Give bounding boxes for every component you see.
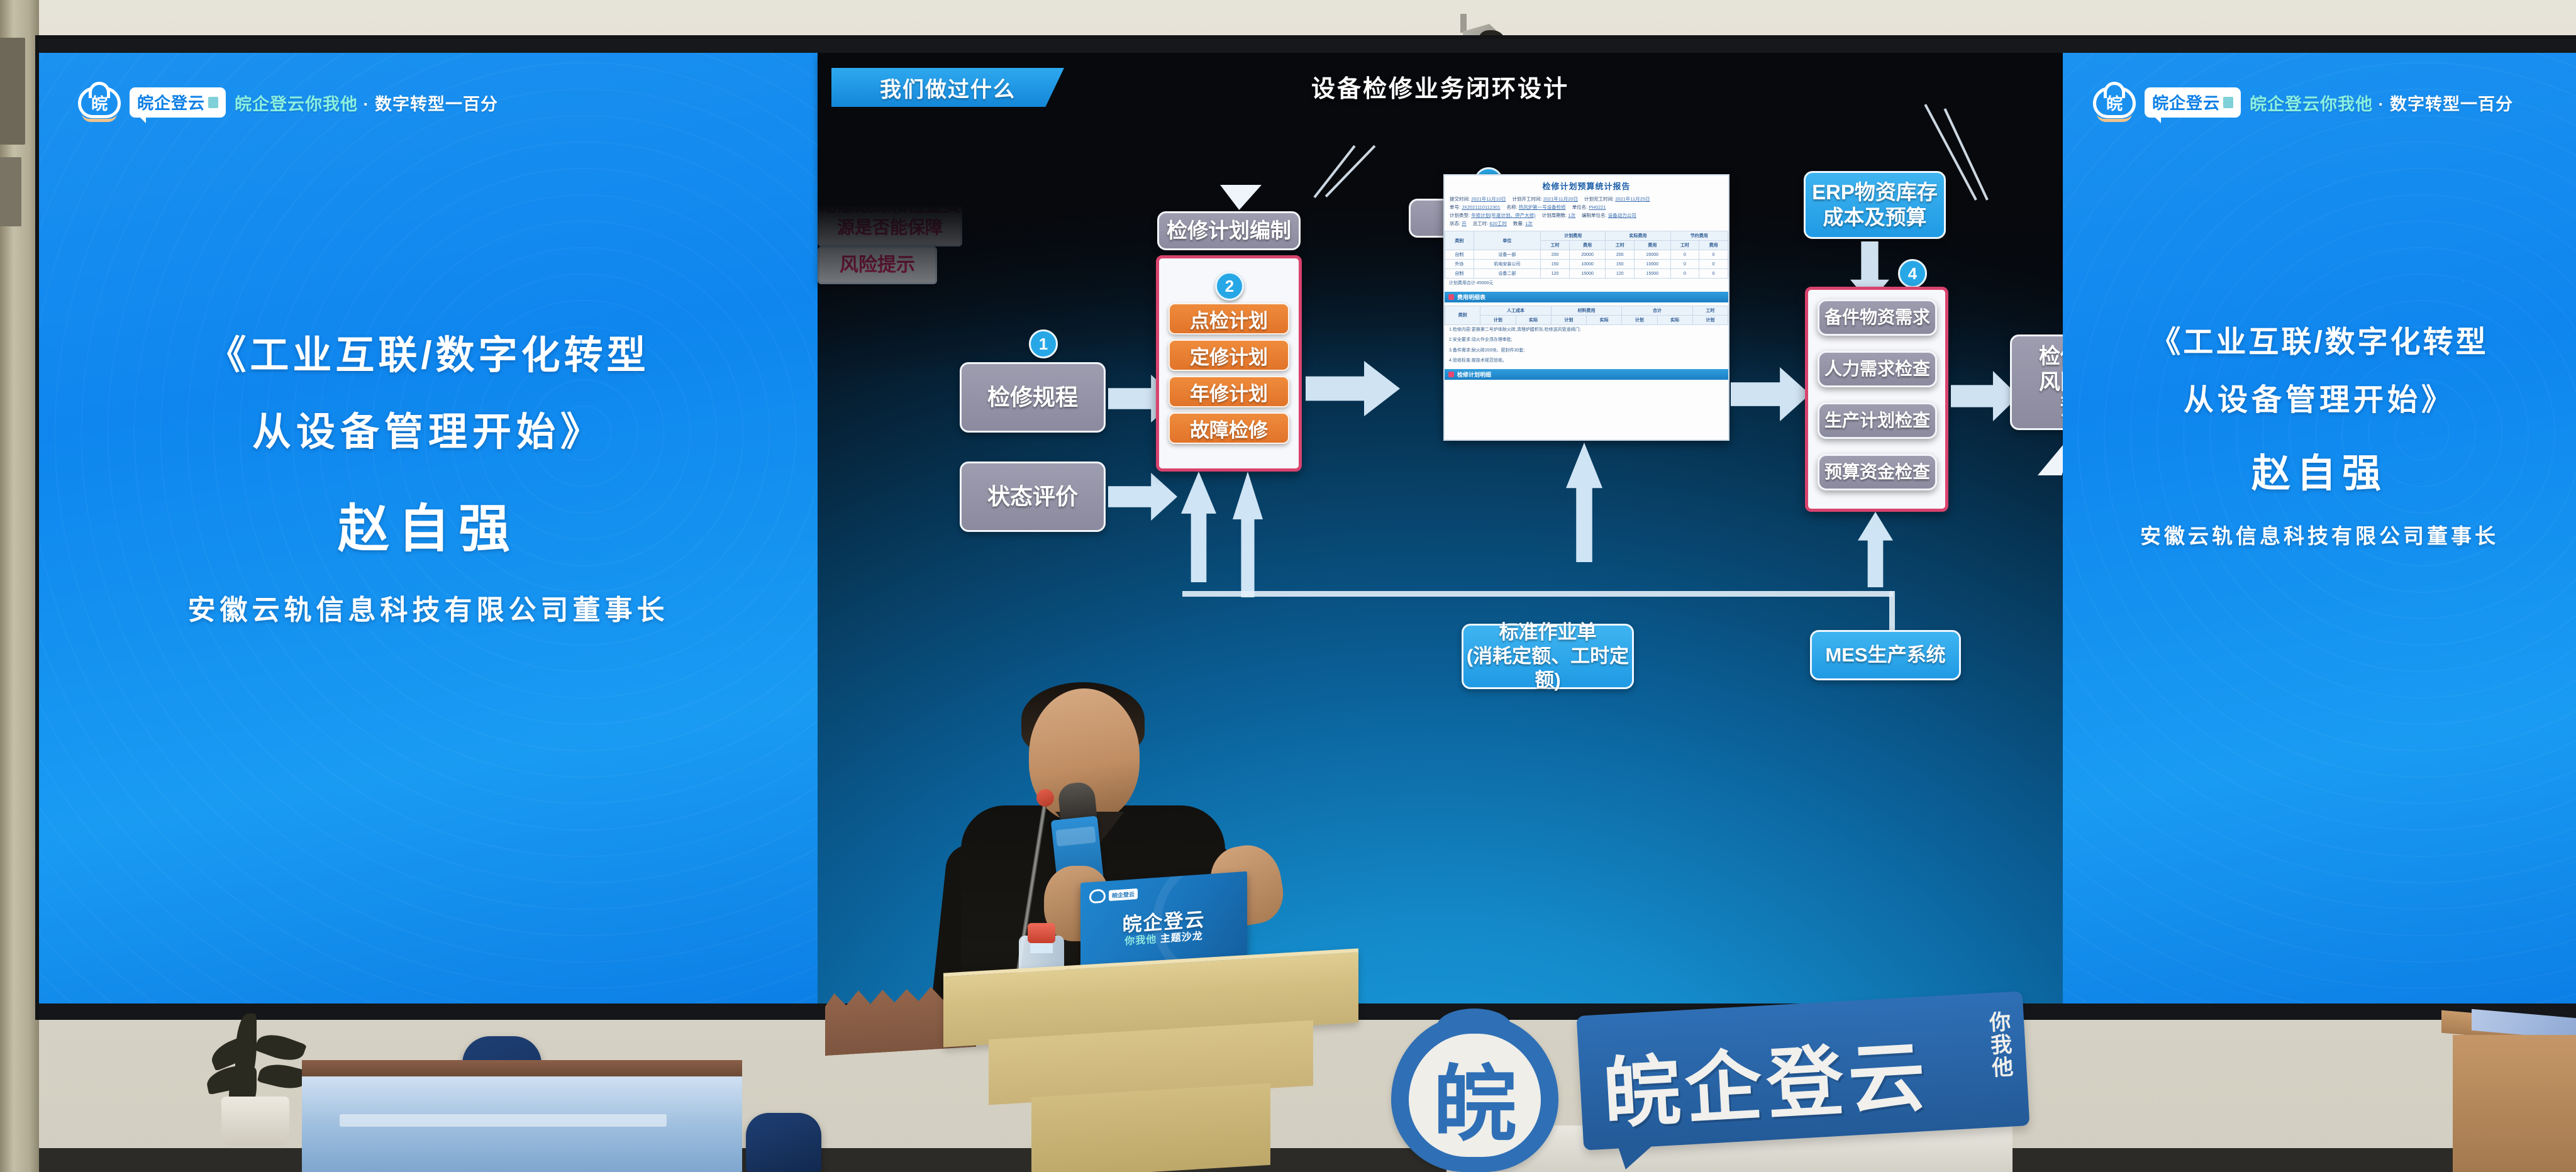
wall-logo-text: 皖企登云 <box>1600 1014 1933 1144</box>
table-row: 外协 机电安装公司 150 10000 150 10000 0 0 <box>1445 260 1728 269</box>
left-brandbar: 皖 皖企登云 皖企登云你我他 · 数字转型一百分 <box>78 84 498 121</box>
cell-r1c1: 机电安装公司 <box>1474 260 1541 269</box>
node-inspection-rule: 检修规程 <box>960 362 1106 433</box>
arrow-report-to-check <box>1731 367 1810 421</box>
pillar-panel-upper <box>0 38 25 145</box>
cell-r0c4: 200 <box>1606 250 1635 260</box>
col-header-5: 费用 <box>1635 241 1671 250</box>
sec2-sub-1: 实际 <box>1516 315 1551 324</box>
cloud-logo-glyph-right: 皖 <box>2106 94 2123 113</box>
wall-cloud-glyph: 皖 <box>1425 1058 1524 1164</box>
table-row: 类别 人工成本 材料费用 合计 工时 <box>1445 306 1728 315</box>
report-note-3: 4.验收标准:按技术规范验收。 <box>1445 356 1728 367</box>
col-header-6: 工时 <box>1670 241 1699 250</box>
meta-label-7: 计划周期数: <box>1542 213 1567 218</box>
report-cost-table: 类别 人工成本 材料费用 合计 工时 计划 实际 计划 实际 计划 实际 计划 <box>1445 306 1728 325</box>
wall-logo-plate-tail <box>1616 1139 1662 1170</box>
check-item-1: 人力需求检查 <box>1818 351 1937 387</box>
cell-r0c3: 20000 <box>1569 250 1606 260</box>
arrow-mes-to-check <box>1858 512 1893 587</box>
microphone-stand-head <box>1036 789 1054 807</box>
wall-brand-logo: 皖 皖企登云 你 我 他 <box>1391 1001 2026 1172</box>
brand-chip-right: 皖企登云 <box>2145 87 2241 118</box>
report-footer-note: 计划费用合计:45000元 <box>1445 279 1728 289</box>
plan-item-3: 故障检修 <box>1169 412 1289 444</box>
plan-item-0: 点检计划 <box>1169 303 1289 334</box>
potted-plant <box>196 1007 316 1146</box>
sec2-sub-3: 实际 <box>1587 315 1622 324</box>
badge-2: 2 <box>1215 272 1244 301</box>
cell-r2c3: 15000 <box>1569 269 1606 279</box>
cell-r1c4: 150 <box>1606 260 1635 269</box>
left-talk-title-line1: 《工业互联/数字化转型 <box>39 323 818 380</box>
front-table-top <box>302 1060 742 1076</box>
wall-logo-small-line-1: 你 <box>1989 1010 2012 1034</box>
sec2-col-4: 工时 <box>1692 306 1728 315</box>
meta-label-4: 名称: <box>1507 204 1518 210</box>
meta-label-10: 总工时: <box>1473 221 1489 226</box>
cell-r1c7: 0 <box>1699 260 1728 269</box>
cell-r0c0: 自制 <box>1445 250 1474 260</box>
cloud-logo-icon-right: 皖 <box>2093 84 2136 121</box>
podium-base <box>1031 1083 1270 1172</box>
erp-line-2: 成本及预算 <box>1823 205 1927 230</box>
node-mes-system: MES生产系统 <box>1810 630 1961 680</box>
pillar-panel-lower <box>0 157 21 226</box>
cell-r1c2: 150 <box>1541 260 1570 269</box>
meta-value-6: 年修计划(年度计划、停产大修) <box>1471 213 1536 218</box>
cell-r1c0: 外协 <box>1445 260 1474 269</box>
wall-logo-small-text: 你 我 他 <box>1989 1010 2014 1080</box>
report-section-3: 检修计划明细 <box>1445 369 1728 380</box>
table-row: 计划 实际 计划 实际 计划 实际 计划 <box>1445 315 1728 324</box>
right-speaker-role: 安徽云轨信息科技有限公司董事长 <box>2063 519 2576 550</box>
meta-value-3: JX2021110112301 <box>1462 204 1500 210</box>
brand-tagline-right: 皖企登云你我他 · 数字转型一百分 <box>2250 91 2513 115</box>
table-group-header-row: 类别 单位 计划费用 实际费用 节约费用 <box>1445 231 1728 241</box>
cell-r0c1: 设备一部 <box>1474 250 1541 260</box>
col-header-7: 费用 <box>1699 241 1728 250</box>
meta-label-3: 单号: <box>1450 204 1460 210</box>
meta-value-4: 热风炉第一号设备检修 <box>1519 204 1566 210</box>
arrow-plan-to-report <box>1306 361 1400 416</box>
badge-4: 4 <box>1898 259 1927 288</box>
sec2-sub-0: 计划 <box>1480 315 1516 324</box>
podium-sign-sub-b: 主题沙龙 <box>1160 931 1203 945</box>
wall-logo-small-line-2: 我 <box>1990 1033 2013 1057</box>
plan-item-2: 年修计划 <box>1169 376 1289 407</box>
meta-label-8: 编制单位名: <box>1582 213 1607 218</box>
led-screen-content: 皖 皖企登云 皖企登云你我他 · 数字转型一百分 《工业互联/数字化转型 从设备… <box>39 53 2576 1003</box>
cell-r1c3: 10000 <box>1569 260 1606 269</box>
brand-tagline: 皖企登云你我他 · 数字转型一百分 <box>235 91 498 115</box>
cell-r1c6: 0 <box>1670 260 1699 269</box>
group-header-0: 计划费用 <box>1541 231 1606 241</box>
meta-value-10: 620工时 <box>1489 221 1507 226</box>
col-header-4: 工时 <box>1606 241 1635 250</box>
sec2-col-2: 材料费用 <box>1551 306 1622 315</box>
right-talk-title-line1: 《工业互联/数字化转型 <box>2063 317 2576 361</box>
meta-value-8: 设备动力公司 <box>1608 213 1636 218</box>
badge-1: 1 <box>1029 329 1058 358</box>
cell-r0c2: 200 <box>1541 250 1570 260</box>
check-item-0: 备件物资需求 <box>1818 299 1937 336</box>
podium-logo-label: 皖企登云 <box>1109 888 1138 900</box>
section-marker-icon-2 <box>1448 372 1454 377</box>
chair <box>746 1113 821 1172</box>
right-talk-title-line2: 从设备管理开始》 <box>2063 375 2576 419</box>
meta-value-7: 1次 <box>1568 213 1575 218</box>
arrow-up-to-plan-b <box>1233 472 1263 597</box>
arrow-up-to-plan-a <box>1181 472 1216 582</box>
podium-sign-sub-a: 你我他 <box>1124 934 1157 948</box>
report-title: 检修计划预算统计报告 <box>1445 175 1728 195</box>
podium-card-logo: 皖企登云 <box>1089 887 1138 904</box>
bottle-cap <box>1028 923 1055 943</box>
tagline-dot: · <box>364 95 370 114</box>
col-header-1: 单位 <box>1474 231 1541 250</box>
mes-drop-line <box>1889 591 1895 635</box>
sec2-col-3: 合计 <box>1622 306 1693 315</box>
node-standard-work-order: 标准作业单 (消耗定额、工时定额) <box>1462 624 1634 689</box>
podium-cloud-icon <box>1089 888 1106 904</box>
cell-r2c2: 120 <box>1541 269 1570 279</box>
dynamic-track-line-2: 源是否能保障 <box>837 216 943 238</box>
desk-front-panel <box>2453 1035 2576 1172</box>
sec2-sub-6: 计划 <box>1692 315 1728 324</box>
erp-line-1: ERP物资库存 <box>1812 180 1938 205</box>
slide-title: 设备检修业务闭环设计 <box>818 69 2063 104</box>
microphone-logo-flag <box>1055 826 1096 846</box>
bottom-bus-line <box>1182 591 1893 597</box>
arrow-check-to-risk <box>1951 371 2019 421</box>
arrow-eval-to-plan <box>1108 473 1177 521</box>
check-item-2: 生产计划检查 <box>1818 402 1937 439</box>
brand-chip-mark-right <box>2223 97 2233 108</box>
meta-value-2: 2021年11月25日 <box>1615 196 1650 202</box>
tagline-dot-right: · <box>2379 95 2385 114</box>
table-row: 自制 设备一部 200 20000 200 20000 0 0 <box>1445 250 1728 260</box>
group-header-2: 节约费用 <box>1670 231 1728 241</box>
cell-r2c6: 0 <box>1670 269 1699 279</box>
cell-r0c6: 0 <box>1670 250 1699 260</box>
meta-label-11: 数量: <box>1513 221 1524 226</box>
right-side-desk <box>2441 1016 2576 1172</box>
callout-rolling-plan-tail <box>1220 185 1262 210</box>
brand-chip-label: 皖企登云 <box>137 91 205 114</box>
front-table-stripe <box>340 1114 667 1127</box>
left-talk-title-line2: 从设备管理开始》 <box>39 400 818 456</box>
meta-value-11: 1次 <box>1525 221 1533 226</box>
sec2-col-1: 人工成本 <box>1480 306 1552 315</box>
cell-r0c5: 20000 <box>1635 250 1671 260</box>
report-meta-row-3: 计划类型: 年修计划(年度计划、停产大修) 计划周期数: 1次 编制单位名: 设… <box>1445 211 1728 219</box>
section-marker-icon <box>1448 294 1454 300</box>
cell-r2c4: 120 <box>1606 269 1635 279</box>
plant-pot <box>221 1097 289 1146</box>
cell-r2c7: 0 <box>1699 269 1728 279</box>
meta-label-6: 计划类型: <box>1450 213 1470 218</box>
meta-label-5: 单位名: <box>1572 204 1588 210</box>
meta-label-2: 计划完工时间: <box>1584 196 1614 202</box>
cell-r2c0: 自制 <box>1445 269 1474 279</box>
plant-leaf <box>254 1029 307 1066</box>
report-meta-row-1: 提交时间: 2021年11月10日 计划开工时间: 2021年11月20日 计划… <box>1445 195 1728 203</box>
col-header-3: 费用 <box>1569 241 1606 250</box>
tagline-part1: 皖企登云你我他 <box>235 95 358 114</box>
left-speaker-role: 安徽云轨信息科技有限公司董事长 <box>39 587 818 627</box>
cloud-logo-icon: 皖 <box>78 84 121 121</box>
sec2-col-0: 类别 <box>1445 306 1480 324</box>
cell-r0c7: 0 <box>1699 250 1728 260</box>
report-section-2-label: 费用明细表 <box>1457 293 1485 301</box>
sec2-sub-5: 实际 <box>1657 315 1692 324</box>
right-title-panel: 皖 皖企登云 皖企登云你我他 · 数字转型一百分 《工业互联/数字化转型 从设备… <box>2063 53 2576 1003</box>
right-speaker-name: 赵自强 <box>2063 441 2576 498</box>
meta-label-1: 计划开工时间: <box>1513 196 1542 202</box>
arrow-up-to-report <box>1566 443 1602 562</box>
node-erp-inventory: ERP物资库存 成本及预算 <box>1804 171 1946 239</box>
callout-resource-schedule: 计划资源预排 <box>818 141 982 186</box>
brand-chip-label-right: 皖企登云 <box>2152 91 2220 114</box>
brand-chip: 皖企登云 <box>130 87 226 118</box>
meta-value-0: 2021年11月10日 <box>1471 196 1506 202</box>
report-section-3-label: 检修计划明细 <box>1457 370 1491 379</box>
cell-r1c5: 10000 <box>1635 260 1671 269</box>
report-screenshot-thumbnail: 检修计划预算统计报告 提交时间: 2021年11月10日 计划开工时间: 202… <box>1443 174 1729 441</box>
wooden-podium <box>943 961 1358 1172</box>
report-note-1: 2.安全要求:动火作业须办理审批; <box>1445 335 1728 346</box>
report-section-2: 费用明细表 <box>1445 292 1728 302</box>
report-main-table: 类别 单位 计划费用 实际费用 节约费用 工时 费用 工时 费用 工时 费用 自… <box>1445 231 1728 279</box>
meta-label-0: 提交时间: <box>1450 196 1470 202</box>
standard-work-line-2: (消耗定额、工时定额) <box>1463 644 1632 692</box>
node-status-eval: 状态评价 <box>960 462 1106 532</box>
right-brandbar: 皖 皖企登云 皖企登云你我他 · 数字转型一百分 <box>2093 84 2513 121</box>
cloud-logo-glyph: 皖 <box>91 94 108 113</box>
table-row: 自制 设备二部 120 15000 120 15000 0 0 <box>1445 269 1728 279</box>
sec2-sub-2: 计划 <box>1551 315 1586 324</box>
standard-work-line-1: 标准作业单 <box>1499 621 1597 644</box>
report-note-2: 3.备件需求:耐火砖200块、密封件30套; <box>1445 346 1728 357</box>
report-meta-row-4: 状态: 开 总工时: 620工时 数量: 1次 <box>1445 219 1728 228</box>
plan-item-1: 定修计划 <box>1169 340 1289 371</box>
report-meta-row-2: 单号: JX2021110112301 名称: 热风炉第一号设备检修 单位名: … <box>1445 203 1728 211</box>
check-item-3: 预算资金检查 <box>1818 454 1937 490</box>
brand-chip-mark <box>208 97 218 108</box>
callout-dynamic-track: 动态跟踪和检查资 源是否能保障 <box>818 186 962 246</box>
col-header-2: 工时 <box>1541 241 1570 250</box>
left-title-panel: 皖 皖企登云 皖企登云你我他 · 数字转型一百分 《工业互联/数字化转型 从设备… <box>39 53 818 1003</box>
tagline-part2: 数字转型一百分 <box>375 95 498 114</box>
tagline-part2-right: 数字转型一百分 <box>2390 95 2513 114</box>
callout-risk-hint: 风险提示 <box>818 246 937 284</box>
cell-r2c5: 15000 <box>1635 269 1671 279</box>
left-speaker-name: 赵自强 <box>39 487 818 561</box>
col-header-0: 类别 <box>1445 231 1474 250</box>
led-bezel-top <box>39 39 2576 53</box>
wall-logo-plate: 皖企登云 你 我 他 <box>1577 991 2030 1150</box>
meta-value-5: PH0221 <box>1589 204 1606 210</box>
wall-logo-small-line-3: 他 <box>1991 1056 2014 1080</box>
report-note-0: 1.检修内容:更换第二号炉体耐火砖,清理炉膛积灰,检修送风管道阀门; <box>1445 325 1728 336</box>
camera-arm <box>1460 14 1467 33</box>
wall-cloud-icon: 皖 <box>1391 1015 1558 1172</box>
meta-value-1: 2021年11月20日 <box>1543 196 1578 202</box>
node-plan-authoring: 检修计划编制 <box>1157 211 1301 250</box>
tagline-part1-right: 皖企登云你我他 <box>2250 95 2373 114</box>
meta-label-9: 状态: <box>1450 221 1460 226</box>
sec2-sub-4: 计划 <box>1622 315 1657 324</box>
meta-value-9: 开 <box>1462 221 1467 226</box>
dynamic-track-line-1: 动态跟踪和检查资 <box>819 194 960 216</box>
left-wall-pillar <box>0 0 39 1172</box>
cell-r2c1: 设备二部 <box>1474 269 1541 279</box>
group-header-1: 实际费用 <box>1606 231 1670 241</box>
